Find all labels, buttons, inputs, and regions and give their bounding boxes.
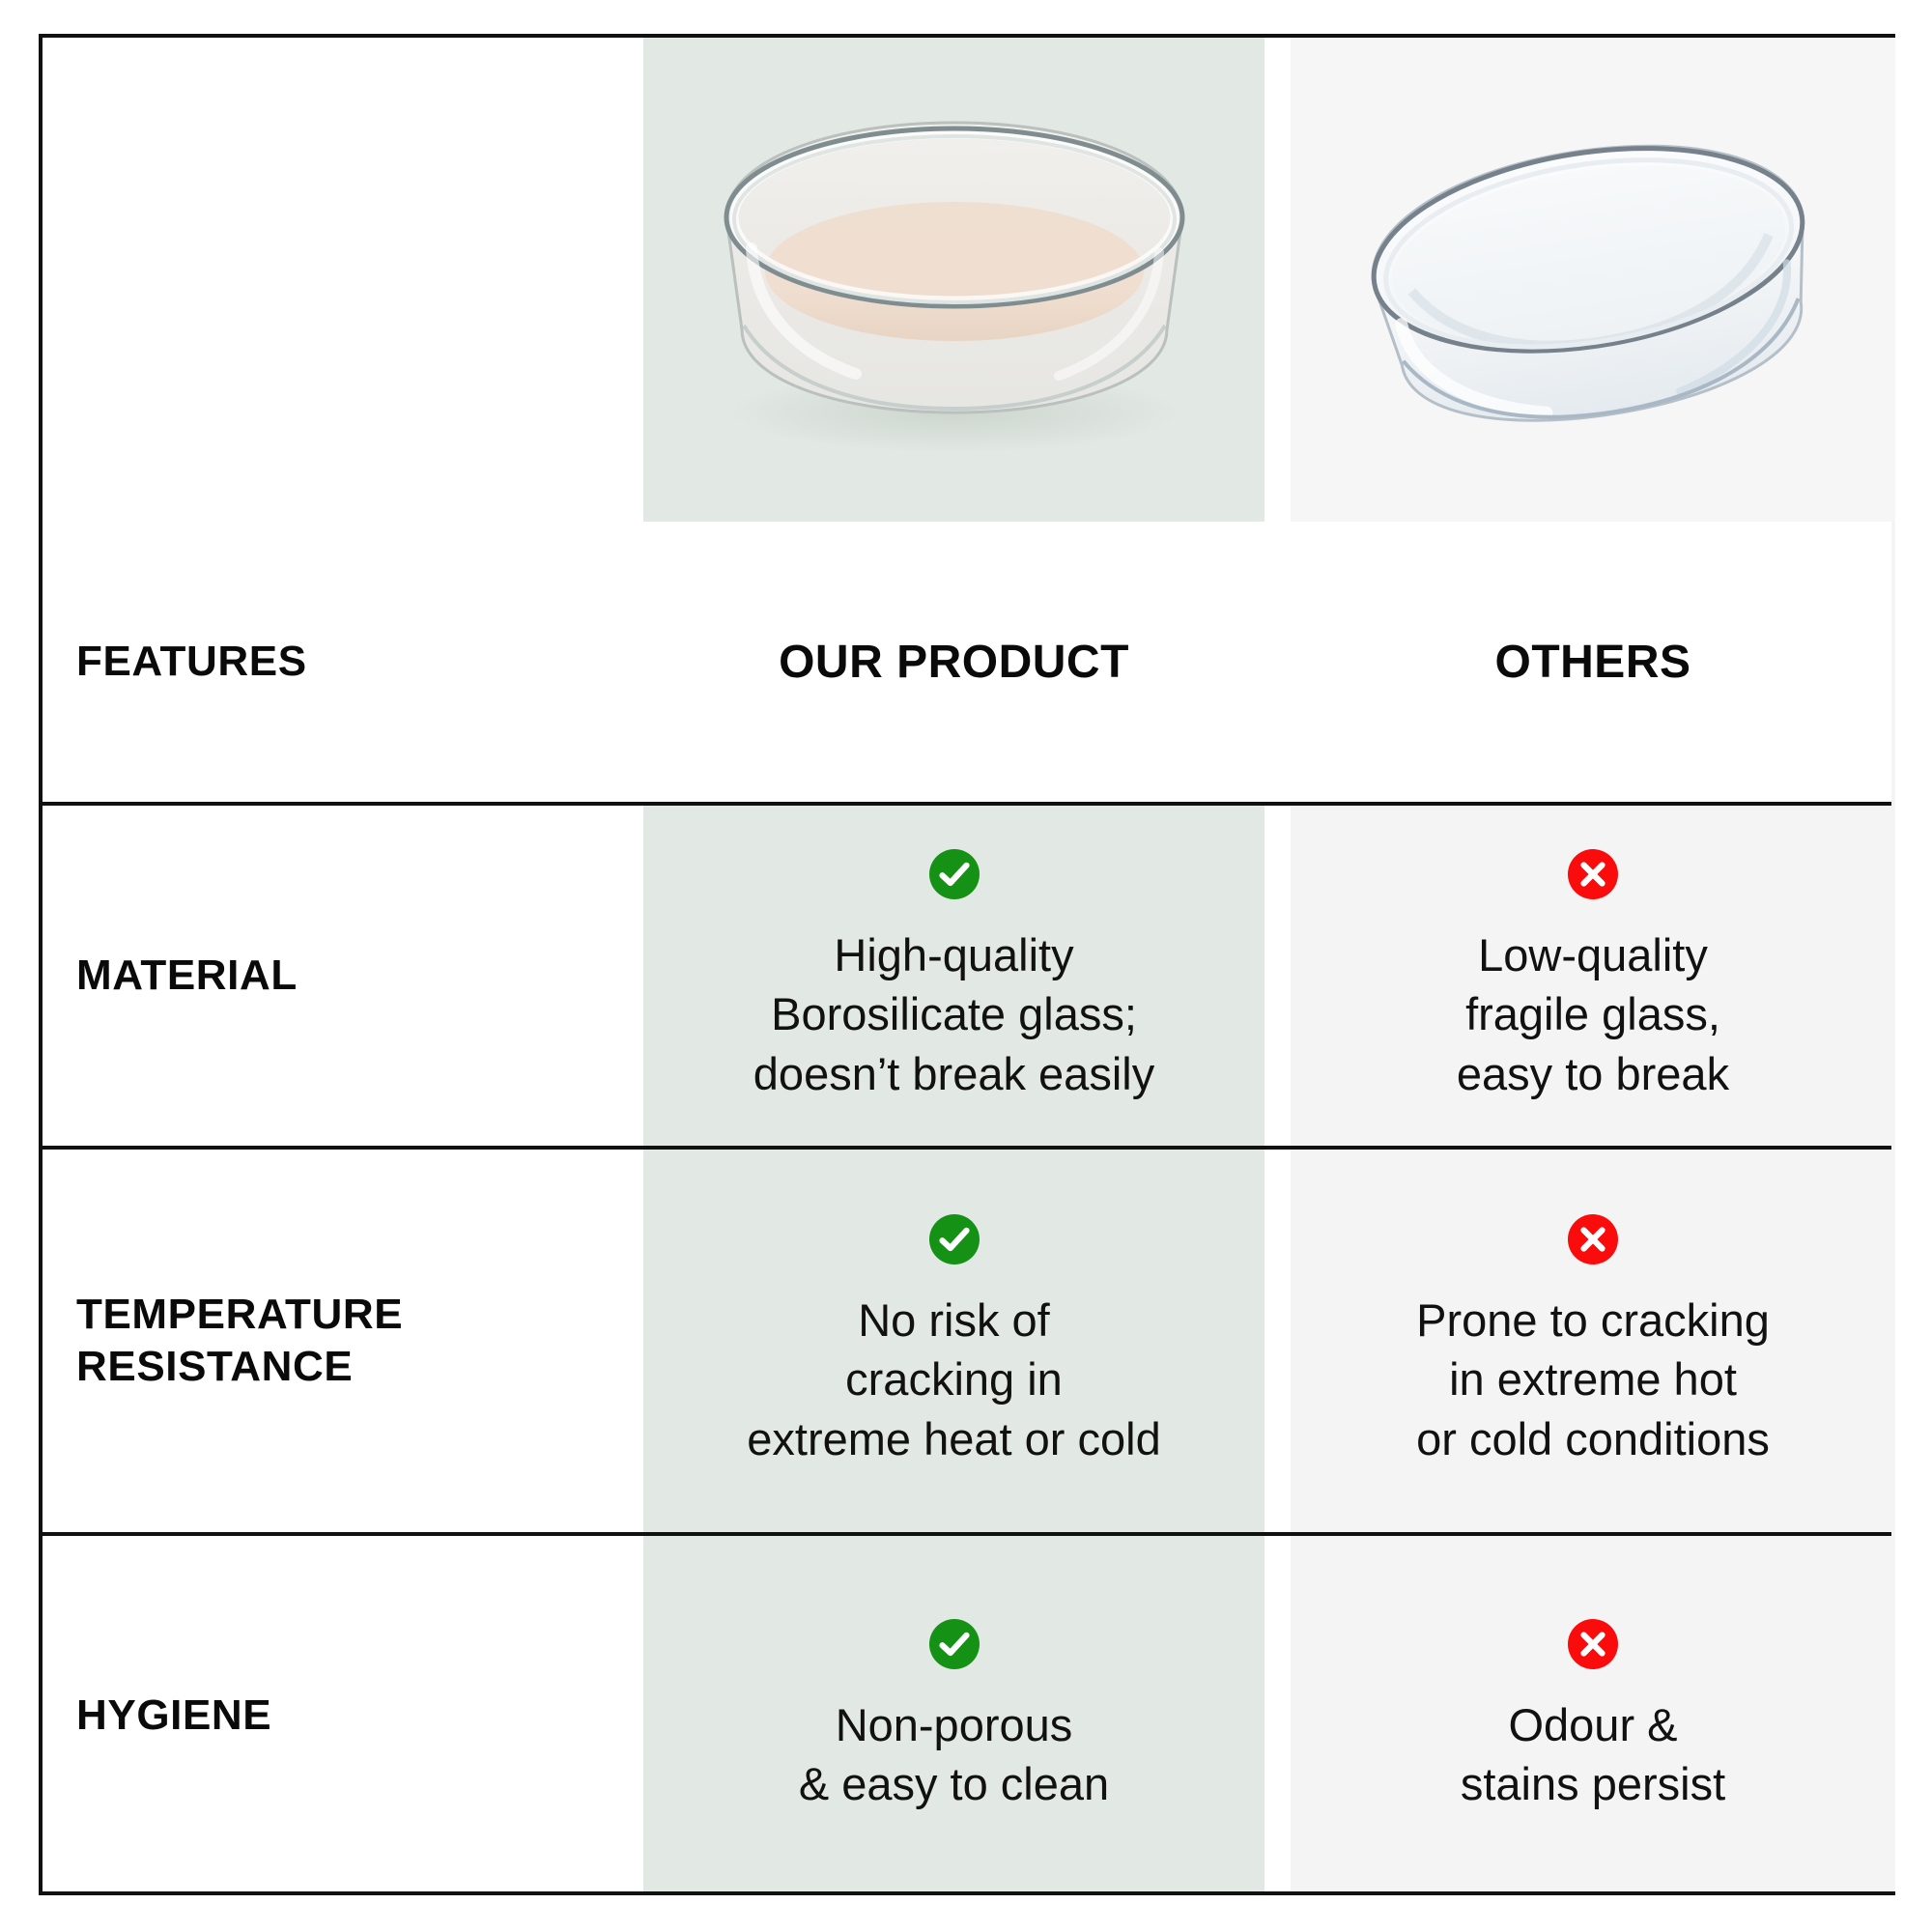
check-circle-icon (928, 1213, 980, 1265)
value-text-temperature-others: Prone to cracking in extreme hot or cold… (1416, 1291, 1770, 1467)
cross-circle-icon (1567, 848, 1619, 900)
row-divider-temperature (43, 1532, 1891, 1536)
value-text-material-our-product: High-quality Borosilicate glass; doesn’t… (753, 925, 1154, 1102)
header-cell-others: OTHERS (1291, 522, 1895, 802)
check-circle-icon (928, 1618, 980, 1670)
column-header-others: OTHERS (1494, 636, 1690, 689)
value-cell-hygiene-our-product: Non-porous & easy to clean (643, 1536, 1264, 1895)
value-text-material-others: Low-quality fragile glass, easy to break (1457, 925, 1729, 1102)
feature-cell-material: MATERIAL (43, 806, 643, 1146)
column-header-features: FEATURES (76, 636, 307, 688)
row-divider-header (43, 802, 1891, 806)
feature-cell-temperature-resistance: TEMPERATURE RESISTANCE (43, 1150, 643, 1532)
feature-label-material: MATERIAL (76, 950, 298, 1002)
value-text-hygiene-others: Odour & stains persist (1461, 1695, 1725, 1813)
comparison-table: FEATURES OUR PRODUCT OTHERS MATERIAL (39, 34, 1895, 1895)
value-cell-temperature-others: Prone to cracking in extreme hot or cold… (1291, 1150, 1895, 1532)
feature-label-hygiene: HYGIENE (76, 1690, 271, 1742)
header-cell-features: FEATURES (43, 522, 643, 802)
feature-cell-hygiene: HYGIENE (43, 1536, 643, 1895)
check-circle-icon (928, 848, 980, 900)
value-text-temperature-our-product: No risk of cracking in extreme heat or c… (747, 1291, 1160, 1467)
value-cell-material-our-product: High-quality Borosilicate glass; doesn’t… (643, 806, 1264, 1146)
column-header-our-product: OUR PRODUCT (779, 636, 1129, 689)
feature-label-temperature-resistance: TEMPERATURE RESISTANCE (76, 1289, 403, 1392)
comparison-table-page: FEATURES OUR PRODUCT OTHERS MATERIAL (0, 0, 1932, 1932)
header-cell-our-product: OUR PRODUCT (643, 522, 1264, 802)
cross-circle-icon (1567, 1213, 1619, 1265)
cross-circle-icon (1567, 1618, 1619, 1670)
table-grid: FEATURES OUR PRODUCT OTHERS MATERIAL (43, 38, 1891, 1891)
value-cell-temperature-our-product: No risk of cracking in extreme heat or c… (643, 1150, 1264, 1532)
value-text-hygiene-our-product: Non-porous & easy to clean (799, 1695, 1109, 1813)
value-cell-material-others: Low-quality fragile glass, easy to break (1291, 806, 1895, 1146)
value-cell-hygiene-others: Odour & stains persist (1291, 1536, 1895, 1895)
row-divider-material (43, 1146, 1891, 1150)
